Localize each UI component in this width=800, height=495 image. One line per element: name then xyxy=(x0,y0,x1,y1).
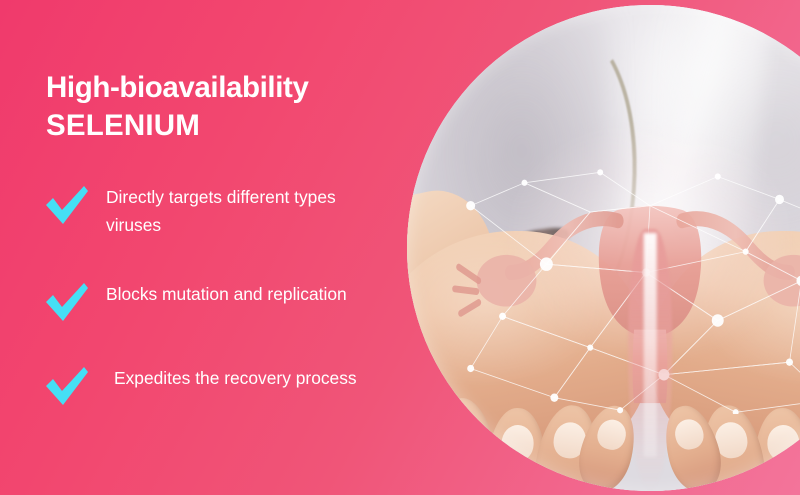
hero-photo xyxy=(407,5,800,491)
fingernail xyxy=(672,416,706,452)
uterus-hologram xyxy=(451,131,800,403)
fingernail xyxy=(595,416,629,452)
hero-photo-circle xyxy=(407,5,800,491)
benefit-text: Blocks mutation and replication xyxy=(106,277,347,308)
promo-banner: High-bioavailability SELENIUM Directly t… xyxy=(0,0,800,495)
polygon-network-mesh xyxy=(451,164,800,414)
benefit-text: Expedites the recovery process xyxy=(106,361,357,392)
list-item: Directly targets different types viruses xyxy=(44,180,444,239)
fingernail xyxy=(501,424,534,461)
list-item: Blocks mutation and replication xyxy=(44,277,444,323)
check-icon xyxy=(44,365,90,407)
fingernail xyxy=(446,414,482,453)
list-item: Expedites the recovery process xyxy=(44,361,444,407)
page-title: High-bioavailability SELENIUM xyxy=(46,69,426,146)
fingernail xyxy=(767,424,800,461)
check-icon xyxy=(44,184,90,226)
headline-line-2: SELENIUM xyxy=(46,107,426,145)
check-icon xyxy=(44,281,90,323)
benefits-list: Directly targets different types viruses… xyxy=(44,180,444,445)
benefit-text: Directly targets different types viruses xyxy=(106,180,366,239)
headline-line-1: High-bioavailability xyxy=(46,69,426,107)
content-column: High-bioavailability SELENIUM Directly t… xyxy=(0,0,440,495)
hologram-beam-core xyxy=(644,233,657,457)
